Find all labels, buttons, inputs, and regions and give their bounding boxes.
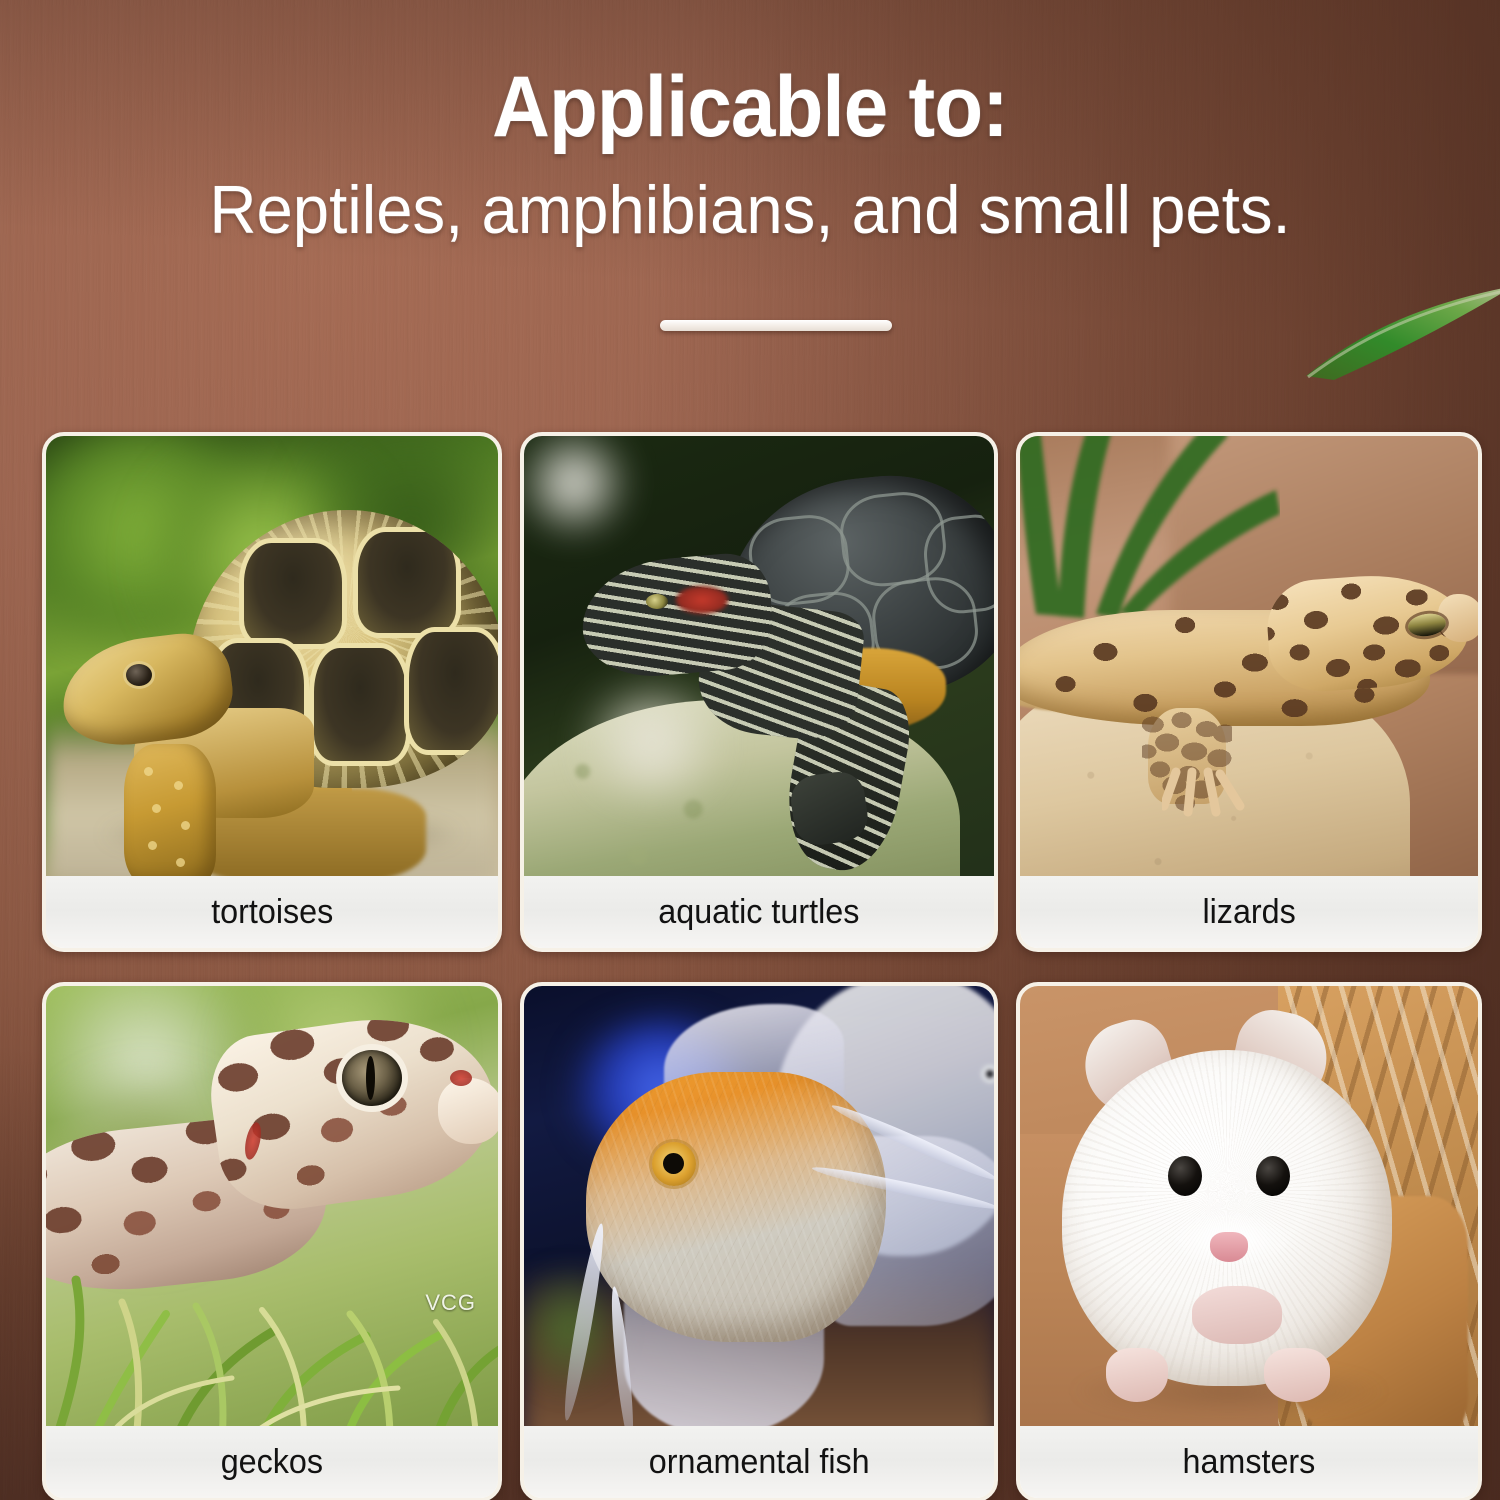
caption-tortoises: tortoises xyxy=(46,876,498,948)
header-divider-rule xyxy=(660,320,892,331)
photo-aquatic-turtles xyxy=(524,436,994,884)
caption-geckos: geckos xyxy=(46,1426,498,1498)
plant-leaves-icon xyxy=(1020,436,1280,636)
caption-lizards: lizards xyxy=(1020,876,1478,948)
photo-geckos: VCG xyxy=(46,986,498,1434)
caption-hamsters: hamsters xyxy=(1020,1426,1478,1498)
page-title: Applicable to: xyxy=(53,64,1448,150)
caption-label: aquatic turtles xyxy=(658,893,859,932)
card-aquatic-turtles[interactable]: aquatic turtles xyxy=(520,432,998,952)
caption-label: geckos xyxy=(221,1443,323,1482)
photo-lizards xyxy=(1020,436,1478,884)
caption-ornamental-fish: ornamental fish xyxy=(524,1426,994,1498)
caption-label: hamsters xyxy=(1183,1443,1316,1482)
poster-header: Applicable to: Reptiles, amphibians, and… xyxy=(0,0,1500,244)
photo-hamsters xyxy=(1020,986,1478,1434)
pet-category-grid: tortoises xyxy=(42,432,1462,1500)
page-subtitle: Reptiles, amphibians, and small pets. xyxy=(30,176,1470,244)
vcg-watermark: VCG xyxy=(425,1290,476,1316)
caption-aquatic-turtles: aquatic turtles xyxy=(524,876,994,948)
card-ornamental-fish[interactable]: ornamental fish xyxy=(520,982,998,1500)
caption-label: ornamental fish xyxy=(649,1443,870,1482)
product-infographic-poster: Applicable to: Reptiles, amphibians, and… xyxy=(0,0,1500,1500)
caption-label: tortoises xyxy=(211,893,333,932)
grass-blades-icon xyxy=(46,1210,498,1434)
card-hamsters[interactable]: hamsters xyxy=(1016,982,1482,1500)
card-geckos[interactable]: VCG geckos xyxy=(42,982,502,1500)
card-tortoises[interactable]: tortoises xyxy=(42,432,502,952)
gecko-toes-icon xyxy=(1162,766,1272,818)
caption-label: lizards xyxy=(1202,893,1295,932)
card-lizards[interactable]: lizards xyxy=(1016,432,1482,952)
photo-ornamental-fish xyxy=(524,986,994,1434)
photo-tortoises xyxy=(46,436,498,884)
